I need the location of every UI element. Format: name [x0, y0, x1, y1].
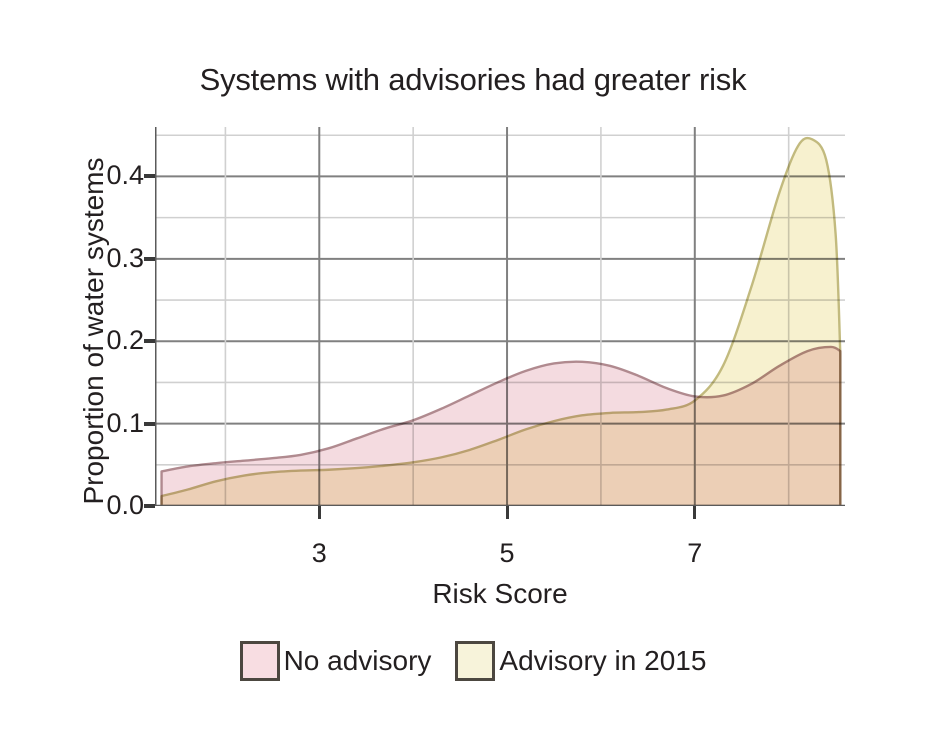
chart-legend: No advisoryAdvisory in 2015	[0, 641, 946, 681]
legend-label: No advisory	[284, 645, 432, 677]
x-tick-label: 3	[289, 540, 349, 567]
legend-swatch-icon	[455, 641, 495, 681]
x-tick-mark	[318, 506, 321, 519]
x-tick-label: 7	[665, 540, 725, 567]
legend-swatch-icon	[240, 641, 280, 681]
x-tick-label: 5	[477, 540, 537, 567]
legend-label: Advisory in 2015	[499, 645, 706, 677]
density-chart-figure: Systems with advisories had greater risk…	[0, 0, 946, 756]
legend-item[interactable]: Advisory in 2015	[455, 641, 706, 681]
x-tick-mark	[693, 506, 696, 519]
x-tick-mark	[506, 506, 509, 519]
legend-item[interactable]: No advisory	[240, 641, 432, 681]
